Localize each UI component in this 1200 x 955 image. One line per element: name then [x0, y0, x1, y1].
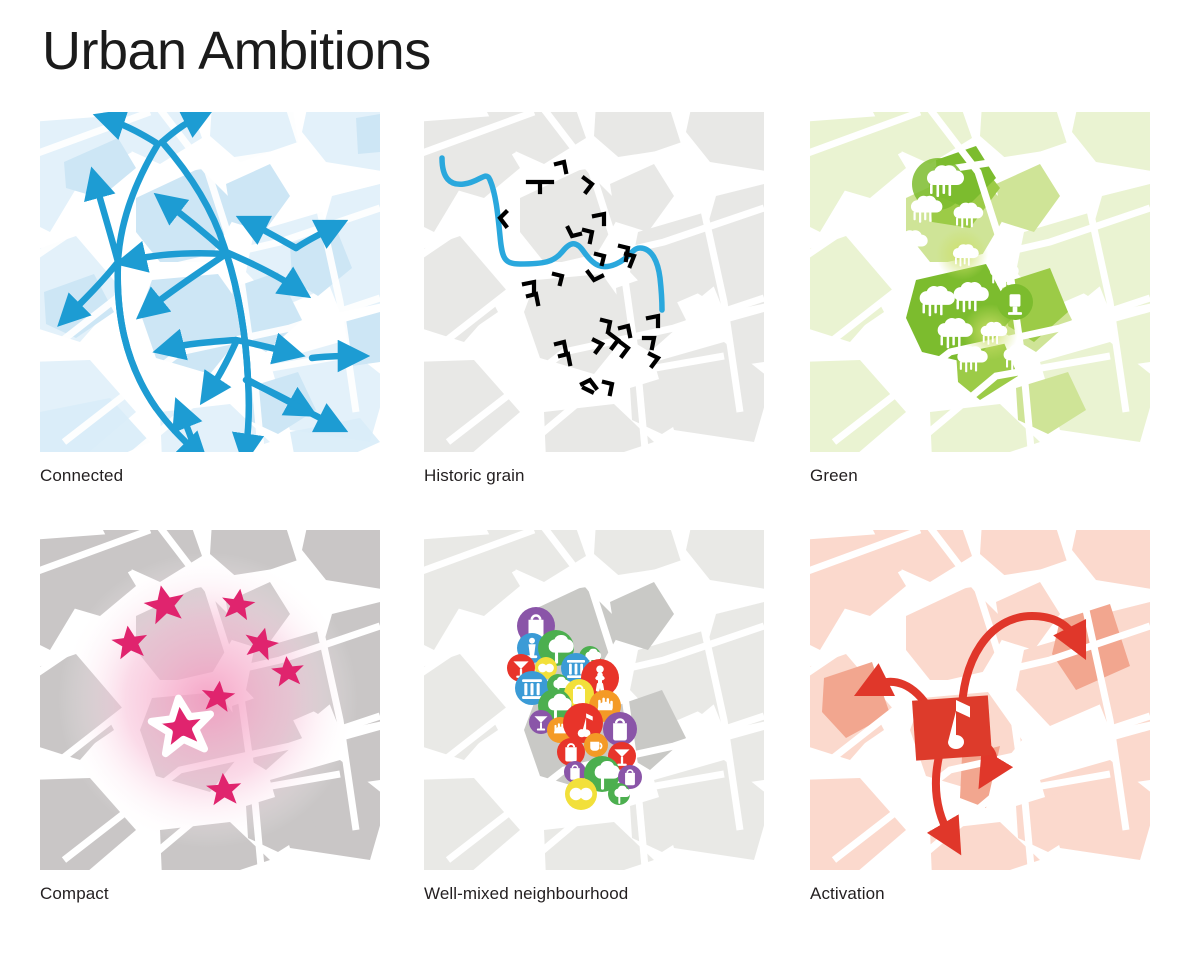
- figure-green: [810, 112, 1150, 452]
- caption-compact: Compact: [40, 884, 380, 904]
- figure-historic-grain: [424, 112, 764, 452]
- caption-green: Green: [810, 466, 1150, 486]
- caption-activation: Activation: [810, 884, 1150, 904]
- figure-well-mixed-neighbourhood: [424, 530, 764, 870]
- pin-theatre-masks: [565, 778, 597, 810]
- caption-historic-grain: Historic grain: [424, 466, 764, 486]
- page-title: Urban Ambitions: [42, 22, 431, 81]
- panel-green[interactable]: Green: [810, 112, 1150, 486]
- pin-shopping-bag: [603, 712, 637, 746]
- caption-connected: Connected: [40, 466, 380, 486]
- panel-compact[interactable]: Compact: [40, 530, 380, 904]
- panel-historic-grain[interactable]: Historic grain: [424, 112, 764, 486]
- panel-connected[interactable]: Connected: [40, 112, 380, 486]
- panel-activation[interactable]: Activation: [810, 530, 1150, 904]
- panel-well-mixed-neighbourhood[interactable]: Well-mixed neighbourhood: [424, 530, 764, 904]
- activation-venue: [912, 695, 992, 760]
- figure-compact: [40, 530, 380, 870]
- compact-glow: [58, 552, 358, 848]
- figure-connected: [40, 112, 380, 452]
- pin-coffee-cup: [584, 733, 608, 757]
- figure-activation: [810, 530, 1150, 870]
- caption-well-mixed-neighbourhood: Well-mixed neighbourhood: [424, 884, 764, 904]
